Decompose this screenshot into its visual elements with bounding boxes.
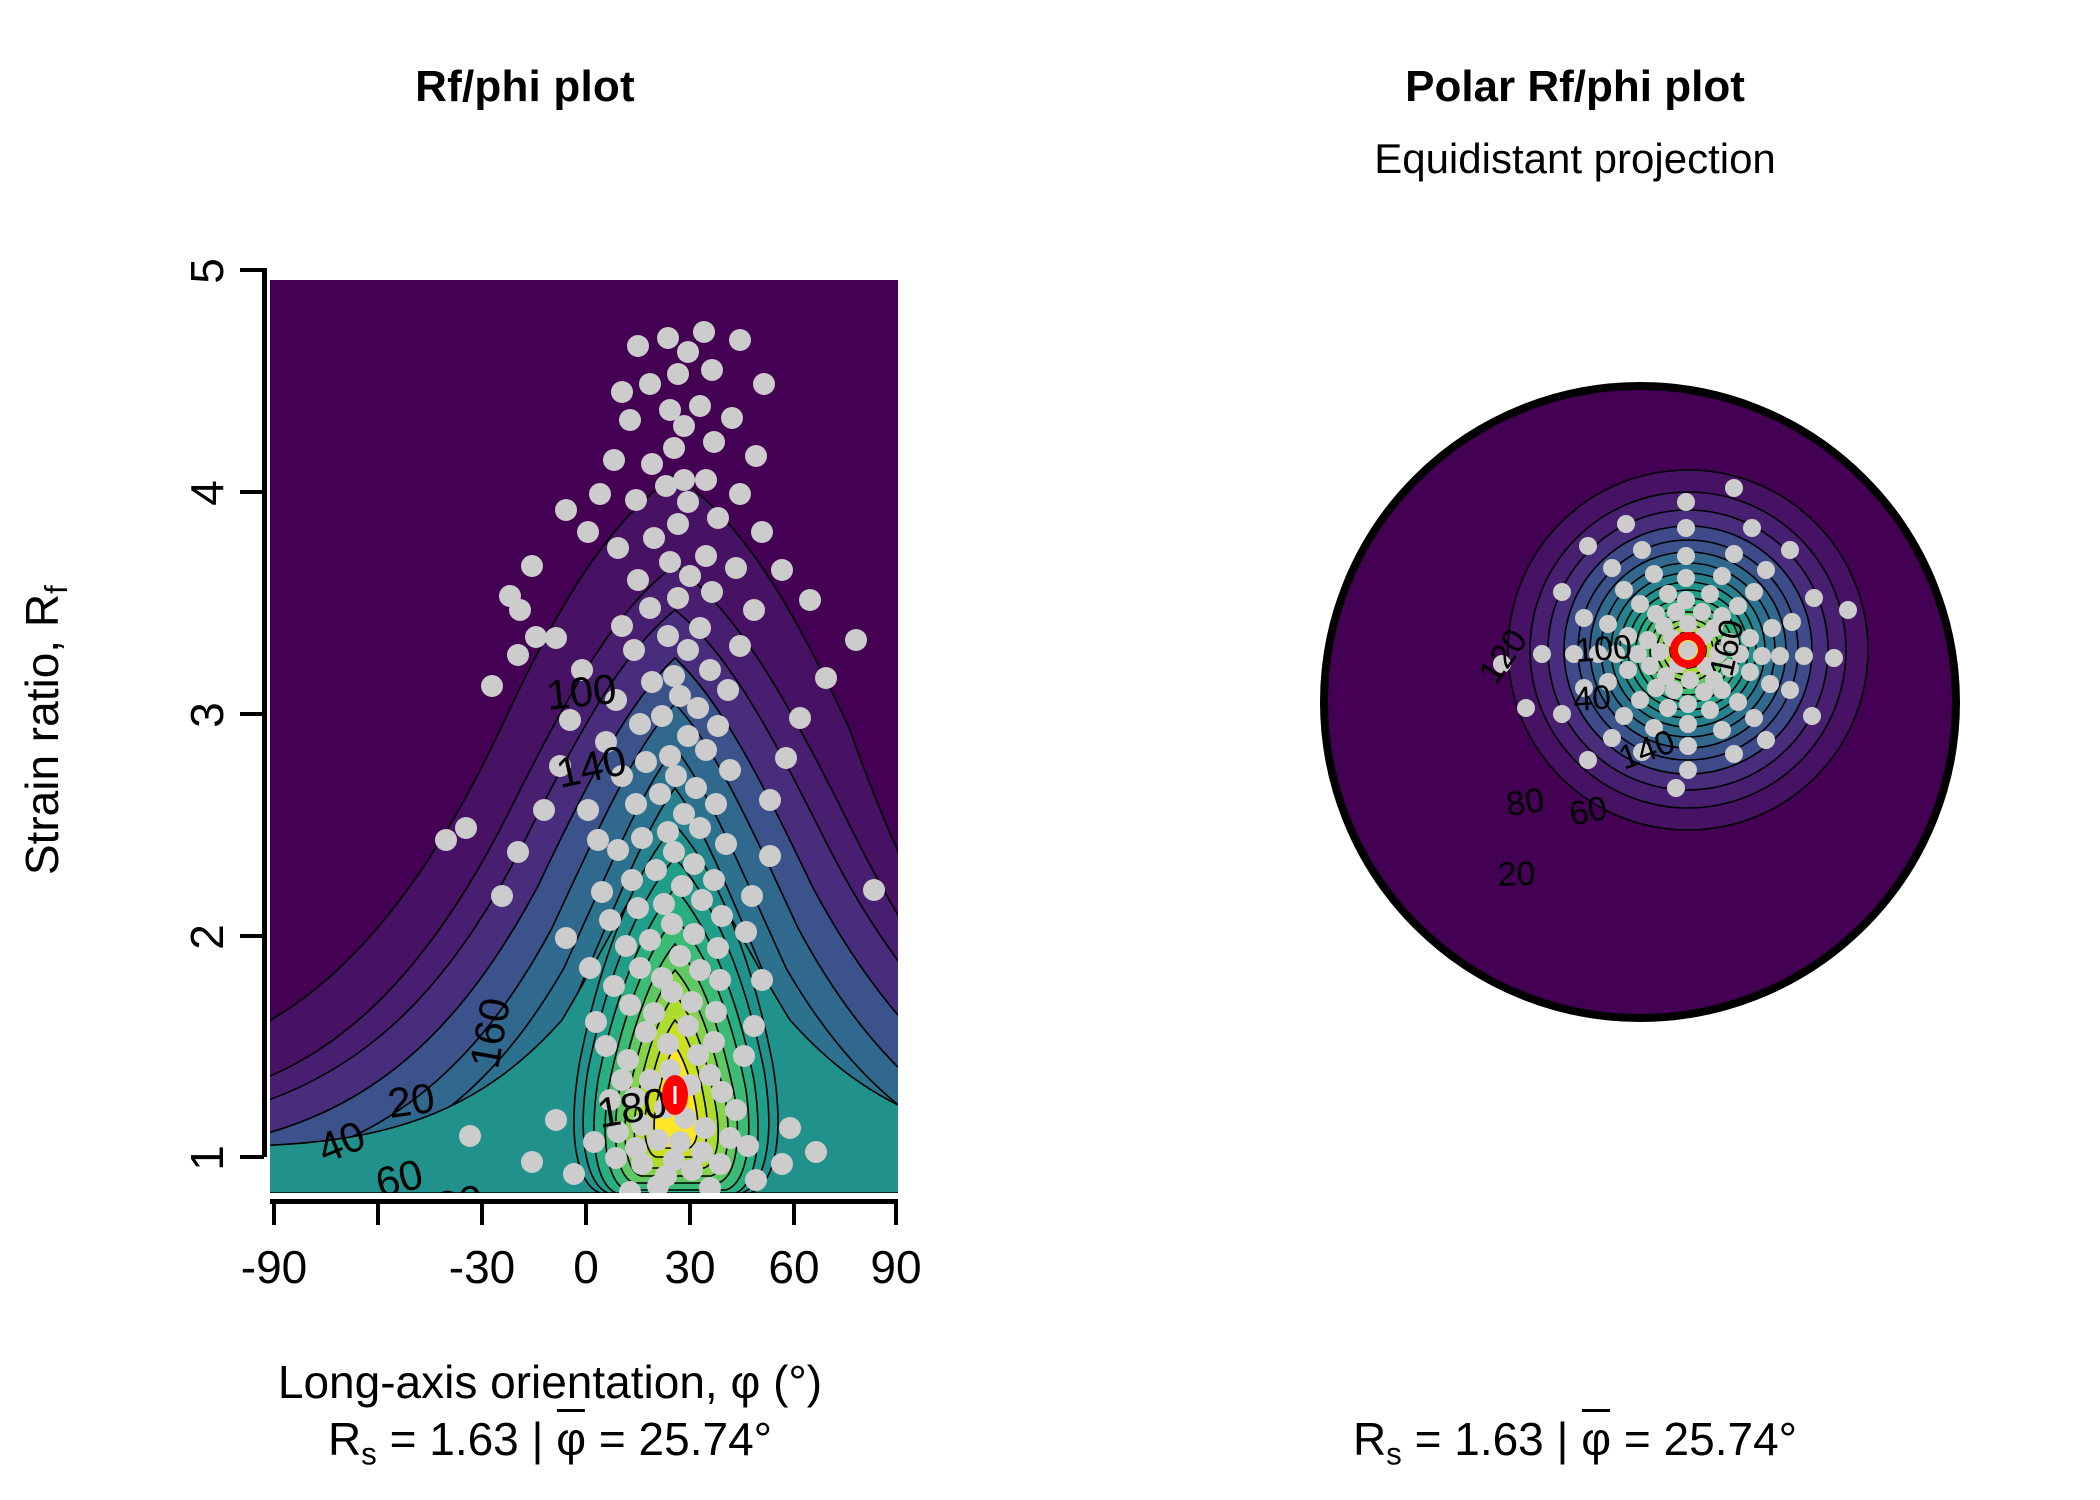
y-tick-label-5: 5 xyxy=(0,244,220,298)
x-tick-90 xyxy=(894,1199,898,1225)
y-axis-title: Strain ratio, Rf xyxy=(15,380,75,1080)
svg-text:20: 20 xyxy=(385,1074,438,1127)
x-tick-30 xyxy=(688,1199,692,1225)
svg-text:100: 100 xyxy=(1574,628,1633,670)
rf-phi-plot: Rf/phi plot xyxy=(0,0,1050,1500)
svg-text:40: 40 xyxy=(1572,678,1612,719)
y-tick-5 xyxy=(240,268,264,272)
svg-text:100: 100 xyxy=(544,665,619,719)
left-plot-title: Rf/phi plot xyxy=(0,62,1050,112)
contour-svg: 20 40 60 80 120 100 140 160 180 xyxy=(270,280,898,1193)
svg-text:80: 80 xyxy=(1504,781,1547,824)
x-tick-label--90: -90 xyxy=(194,1240,354,1294)
svg-text:60: 60 xyxy=(1566,789,1611,834)
x-tick-label-90: 90 xyxy=(816,1240,976,1294)
svg-text:20: 20 xyxy=(1497,855,1536,894)
y-tick-1 xyxy=(240,1155,264,1159)
y-tick-4 xyxy=(240,490,264,494)
contour-bands xyxy=(270,280,898,1193)
polar-plot-area: 40 100 120 160 140 80 60 20 xyxy=(1316,378,1964,1026)
x-tick--60 xyxy=(376,1199,380,1225)
y-tick-2 xyxy=(240,934,264,938)
x-tick--30 xyxy=(480,1199,484,1225)
y-tick-label-1: 1 xyxy=(0,1131,220,1185)
x-axis-title: Long-axis orientation, φ (°) xyxy=(0,1355,1100,1409)
right-plot-subtitle: Equidistant projection xyxy=(1050,135,2100,183)
x-tick--90 xyxy=(272,1199,276,1225)
polar-rf-phi-plot: Polar Rf/phi plot Equidistant projection xyxy=(1050,0,2100,1500)
right-plot-title: Polar Rf/phi plot xyxy=(1050,62,2100,112)
polar-svg: 40 100 120 160 140 80 60 20 xyxy=(1316,378,1964,1026)
y-tick-3 xyxy=(240,712,264,716)
x-tick-60 xyxy=(792,1199,796,1225)
x-tick-0 xyxy=(584,1199,588,1225)
figure-root: Rf/phi plot xyxy=(0,0,2100,1500)
right-stats-caption: Rs = 1.63 | φ = 25.74° xyxy=(1050,1412,2100,1472)
contour-plot-area: 20 40 60 80 120 100 140 160 180 xyxy=(270,280,898,1193)
left-stats-caption: Rs = 1.63 | φ = 25.74° xyxy=(0,1412,1100,1472)
y-axis-title-sub: f xyxy=(39,585,74,594)
mean-marker xyxy=(662,1075,688,1115)
